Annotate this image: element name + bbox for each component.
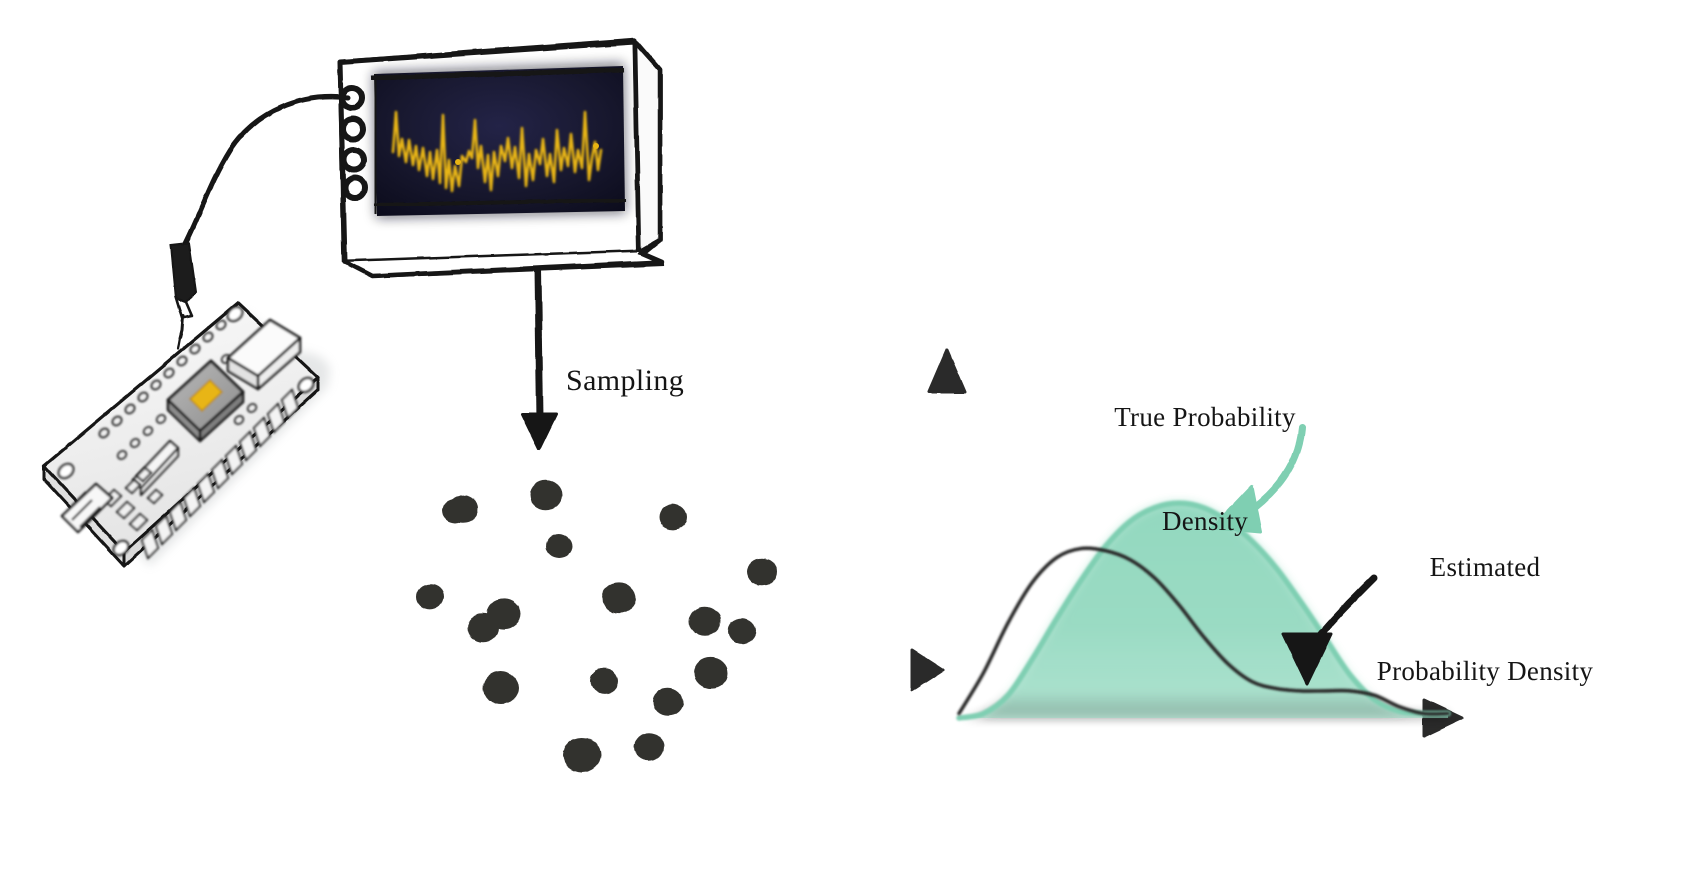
- estimated-density-label: Estimated Probability Density: [1320, 481, 1650, 757]
- estimated-density-label-line1: Estimated: [1320, 550, 1650, 585]
- sample-dot: [728, 618, 756, 644]
- true-density-label-line1: True Probability: [1050, 400, 1360, 435]
- sample-dot: [563, 738, 601, 773]
- estimated-density-label-line2: Probability Density: [1320, 654, 1650, 689]
- microcontroller-board: [44, 303, 330, 566]
- sampling-label: Sampling: [566, 362, 684, 400]
- sample-dot: [467, 613, 499, 642]
- oscilloscope-screen: [371, 63, 626, 218]
- sample-dot: [634, 733, 664, 761]
- sample-dot: [659, 504, 687, 530]
- sample-dot: [602, 582, 636, 613]
- sample-dot: [530, 480, 562, 509]
- true-density-label-line2: Density: [1050, 504, 1360, 539]
- sample-dot: [546, 534, 572, 558]
- sample-dot: [442, 499, 468, 523]
- sample-dot: [694, 657, 728, 688]
- sample-dot: [416, 584, 444, 610]
- true-density-label: True Probability Density: [1050, 331, 1360, 607]
- probe-cable: [184, 97, 348, 246]
- sample-dot: [653, 688, 683, 716]
- sample-dot: [747, 558, 777, 586]
- oscilloscope: [184, 40, 664, 276]
- sample-dot: [689, 606, 721, 635]
- diagram-canvas: Sampling True Probability Density Estima…: [0, 0, 1697, 889]
- sample-dot-cloud: [416, 480, 777, 772]
- samples-to-plot-arrow: [760, 650, 943, 690]
- sampling-arrow: [522, 268, 556, 449]
- oscilloscope-probe: [171, 243, 196, 349]
- sample-dot: [483, 671, 519, 704]
- sample-dot: [590, 668, 618, 694]
